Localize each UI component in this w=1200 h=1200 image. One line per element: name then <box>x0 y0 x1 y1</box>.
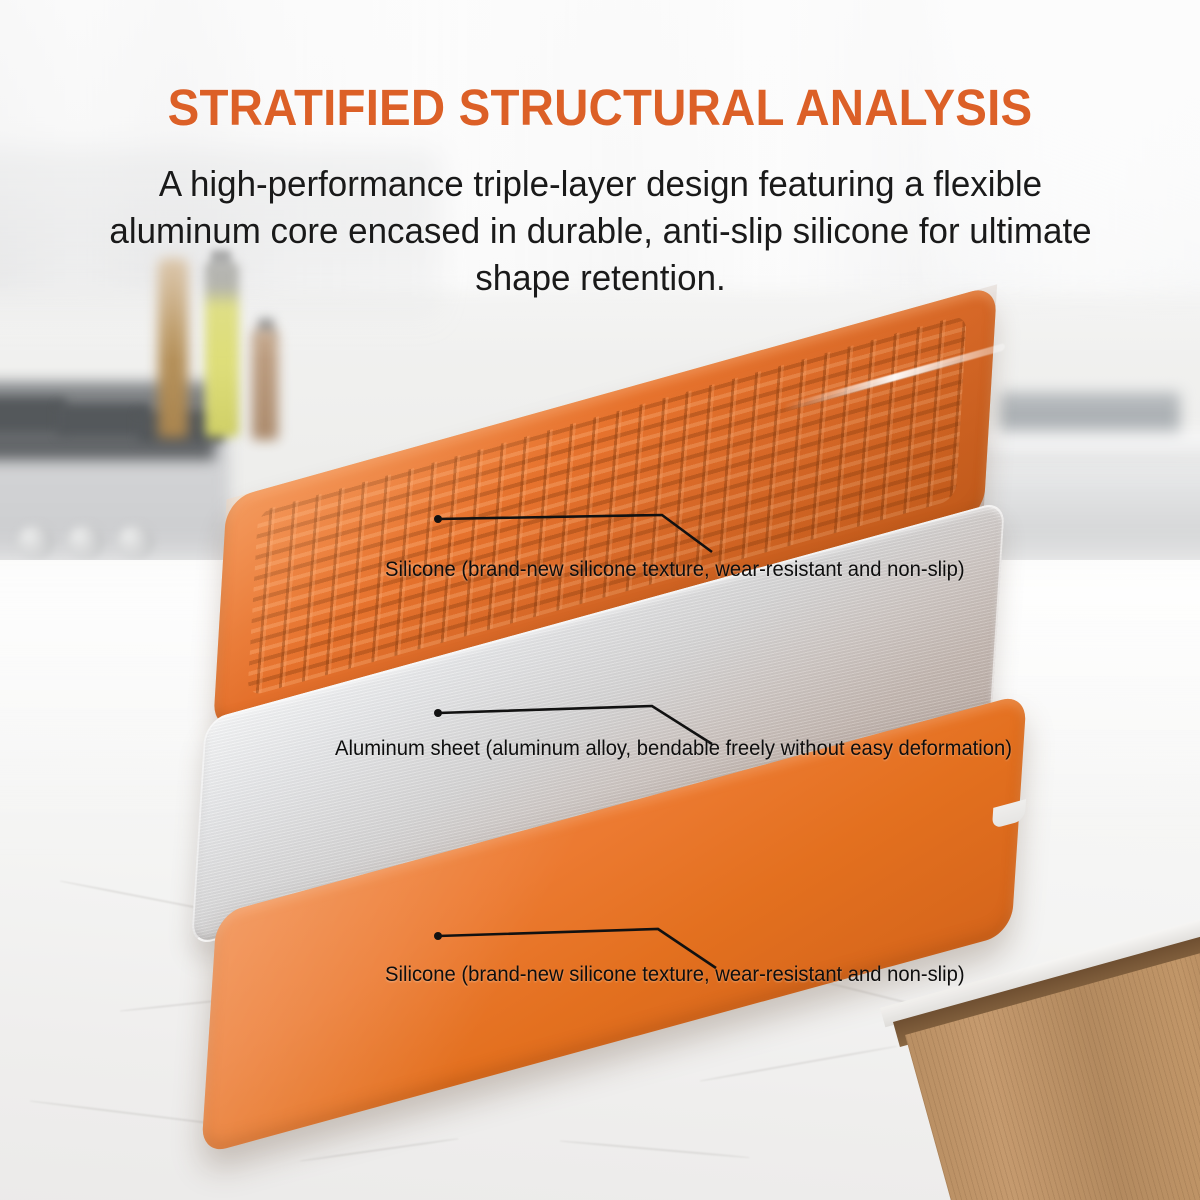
callout-label-bottom-silicone: Silicone (brand-new silicone texture, we… <box>385 962 965 987</box>
callout-label-top-silicone: Silicone (brand-new silicone texture, we… <box>385 557 965 582</box>
infographic-canvas: STRATIFIED STRUCTURAL ANALYSIS A high-pe… <box>0 0 1200 1200</box>
exploded-product-view <box>0 0 1200 1200</box>
callout-label-aluminum-core: Aluminum sheet (aluminum alloy, bendable… <box>335 736 1012 761</box>
